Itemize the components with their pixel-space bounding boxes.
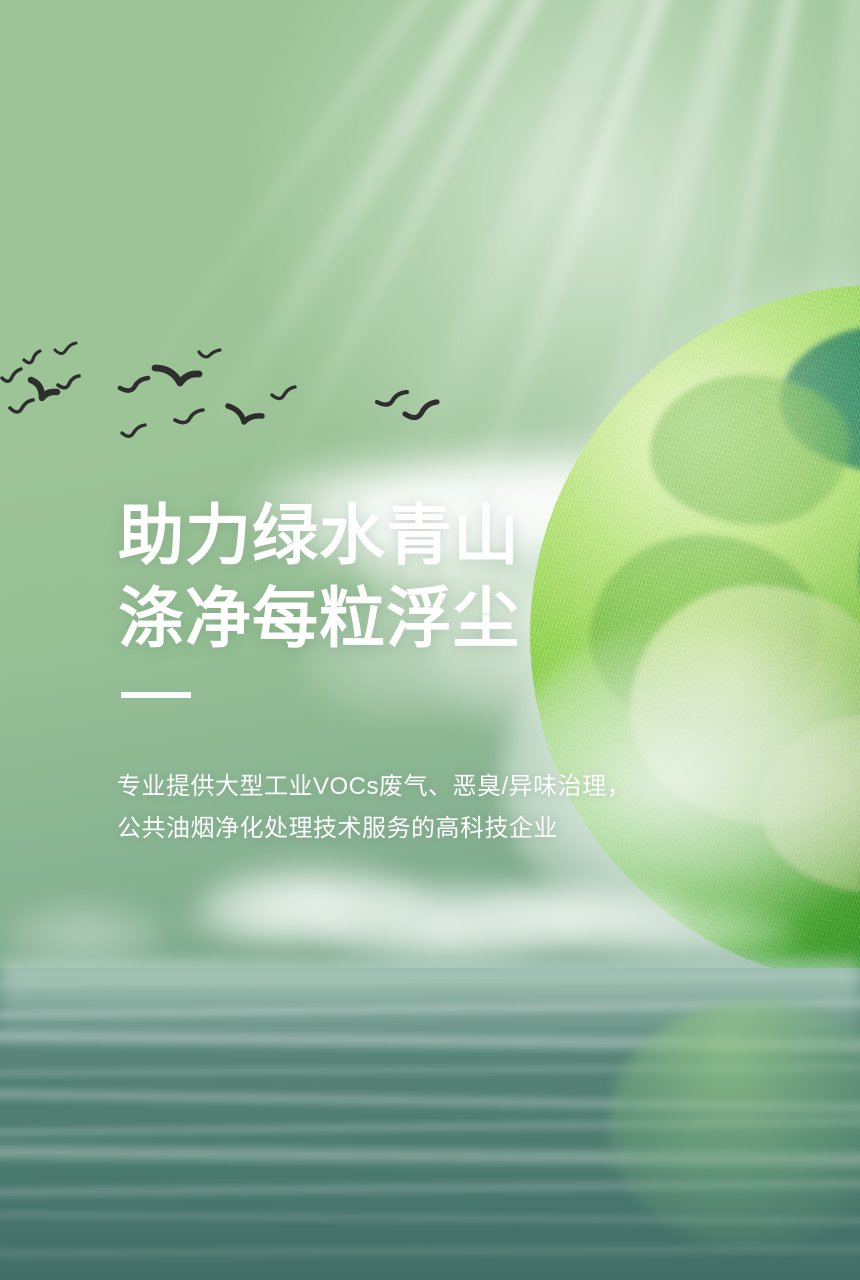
poster-canvas: 助力绿水青山 涤净每粒浮尘 专业提供大型工业VOCs废气、恶臭/异味治理， 公共… xyxy=(0,0,860,1280)
cloud xyxy=(180,890,360,950)
birds-svg xyxy=(0,330,470,470)
water-ripple xyxy=(0,972,860,990)
bird-icon xyxy=(122,425,145,436)
bird-icon xyxy=(10,400,33,412)
bird-icon xyxy=(155,368,199,383)
title-divider xyxy=(121,692,191,698)
cloud xyxy=(560,900,800,970)
birds-flock xyxy=(0,330,470,470)
subtitle-line-1: 专业提供大型工业VOCs废气、恶臭/异味治理， xyxy=(117,766,717,808)
bird-icon xyxy=(24,351,40,363)
bird-icon xyxy=(377,392,407,405)
headline-line-1: 助力绿水青山 xyxy=(118,494,678,577)
bird-icon xyxy=(120,378,148,391)
bird-icon xyxy=(272,387,295,399)
bird-icon xyxy=(31,380,57,398)
subtitle-line-2: 公共油烟净化处理技术服务的高科技企业 xyxy=(117,808,717,850)
bird-icon xyxy=(405,402,437,418)
headline-line-2: 涤净每粒浮尘 xyxy=(118,577,678,660)
subtitle: 专业提供大型工业VOCs废气、恶臭/异味治理， 公共油烟净化处理技术服务的高科技… xyxy=(117,766,717,850)
bird-icon xyxy=(55,343,76,354)
bird-icon xyxy=(228,406,262,422)
cloud xyxy=(0,900,170,970)
bird-icon xyxy=(58,376,79,388)
bird-icon xyxy=(2,369,21,381)
bird-icon xyxy=(175,410,203,423)
bird-icon xyxy=(199,350,220,357)
page-title: 助力绿水青山 涤净每粒浮尘 xyxy=(118,494,678,660)
